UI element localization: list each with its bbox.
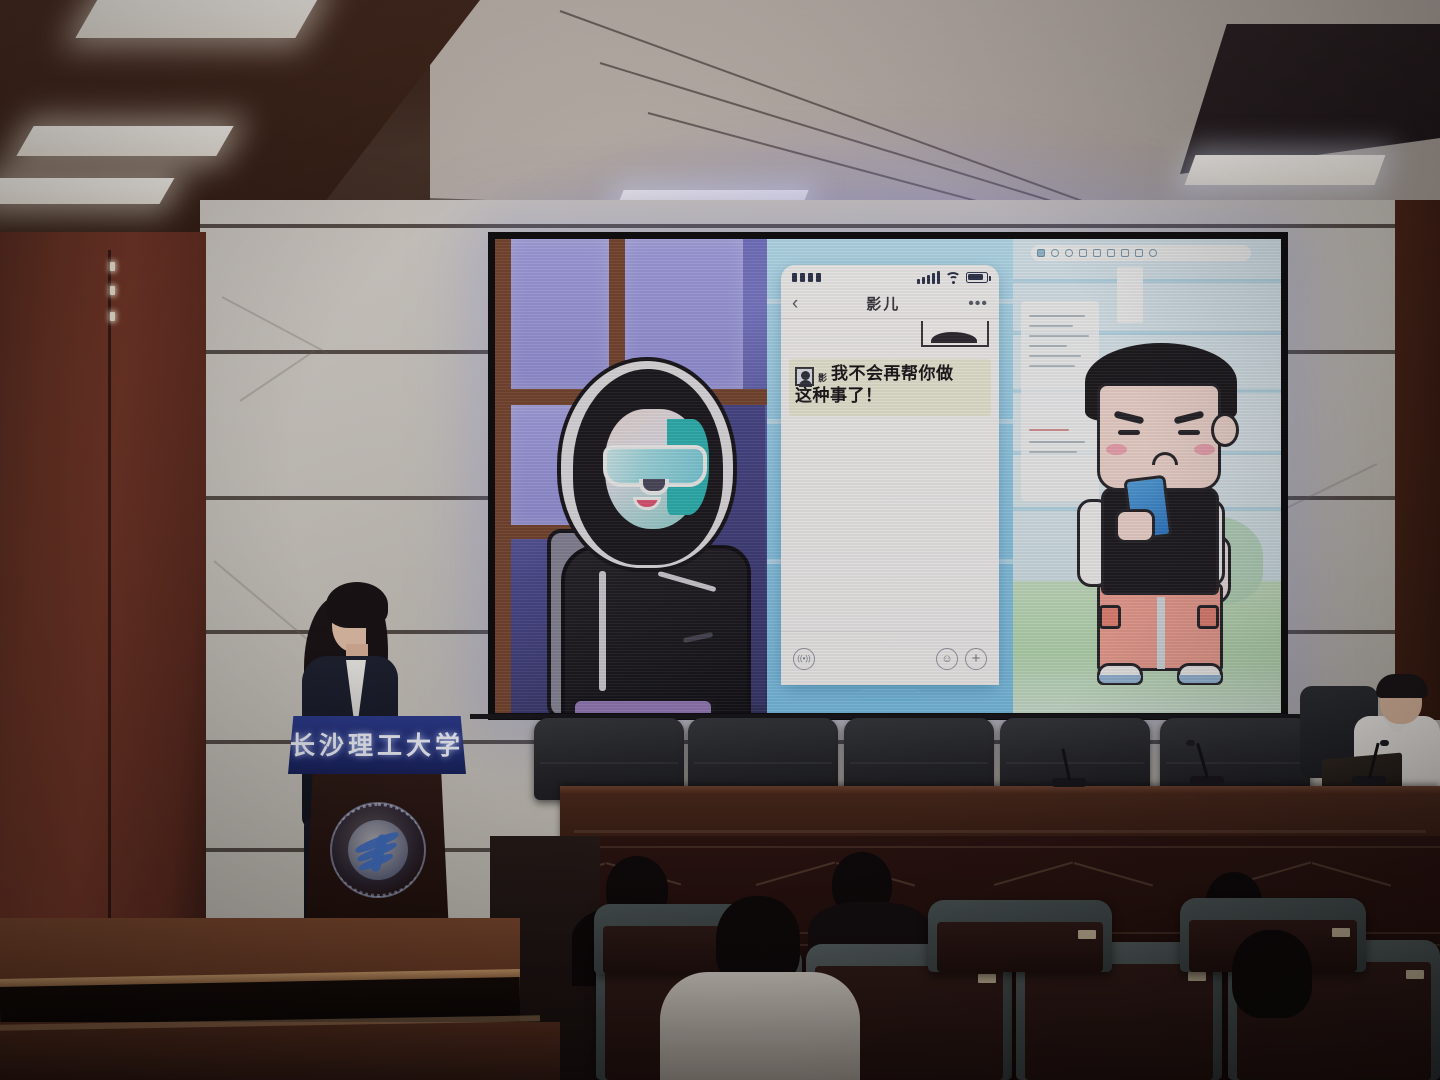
slide-panel-phone: ‹ 影儿 ••• 影 — [767, 239, 1013, 713]
phone-nav-bar: ‹ 影儿 ••• — [781, 289, 999, 319]
blush-left — [1106, 444, 1127, 455]
blush-right — [1194, 444, 1215, 455]
home-indicator — [859, 689, 921, 701]
mail-icon[interactable] — [1121, 249, 1129, 257]
jacket-stripe — [683, 632, 713, 643]
wall-light-dot — [110, 262, 115, 271]
shoe-right — [1177, 663, 1223, 685]
voice-message-icon[interactable]: ((•)) — [793, 648, 815, 670]
wall-chevron — [1312, 862, 1391, 887]
ceiling-light-panel — [16, 126, 233, 156]
chair-seat — [571, 697, 715, 713]
chat-contact-name: 影儿 — [866, 293, 900, 314]
search-icon[interactable] — [1051, 249, 1059, 257]
signal-bars-icon — [917, 271, 940, 284]
boy-character — [1071, 291, 1251, 691]
ceiling-light-panel — [0, 178, 175, 204]
seat-number-plate — [1188, 972, 1206, 981]
phone-status-bar — [781, 265, 999, 289]
audience-head — [1232, 930, 1312, 1018]
edit-icon[interactable] — [1079, 249, 1087, 257]
cloud-icon[interactable] — [1107, 249, 1115, 257]
wall-chevron — [756, 861, 835, 886]
browser-toolbar[interactable] — [1031, 245, 1251, 261]
menu-icon[interactable] — [1037, 249, 1045, 257]
microphone-head — [1186, 740, 1195, 746]
message-header: 影 我不会再帮你做 — [795, 364, 985, 386]
slide-panel-hacker — [495, 239, 767, 713]
audience-seat[interactable] — [928, 900, 1112, 972]
bg-stripe — [1013, 279, 1281, 283]
emoji-icon[interactable]: ☺ — [936, 648, 958, 670]
boy-ear — [1211, 413, 1239, 447]
seat-number-plate — [1078, 930, 1096, 939]
message-text-line-2: 这种事了！ — [795, 386, 985, 408]
previous-message-thumbnail — [921, 321, 989, 347]
table-top-edge — [560, 786, 1440, 794]
podium-banner-text: 长沙理工大学 — [288, 726, 466, 762]
hacker-character — [547, 357, 757, 713]
wifi-icon — [945, 271, 961, 283]
audience-shoulder — [660, 972, 860, 1080]
wall-chevron — [1074, 862, 1153, 887]
auditorium-scene: ‹ 影儿 ••• 影 — [0, 0, 1440, 1080]
back-icon[interactable]: ‹ — [792, 294, 798, 313]
battery-icon — [966, 272, 988, 283]
marble-vein — [239, 350, 315, 402]
filter-icon[interactable] — [1135, 249, 1143, 257]
wood-panel-seam — [108, 250, 111, 930]
wall-light-dot — [110, 312, 115, 321]
pants-gap — [1157, 597, 1165, 669]
home-icon[interactable] — [1093, 249, 1101, 257]
left-indicator-bars — [792, 273, 821, 282]
marble-seam — [200, 224, 1440, 228]
eye-left — [1118, 430, 1140, 435]
pants-pocket-right — [1197, 605, 1219, 629]
sender-tag: 影 — [818, 371, 827, 384]
jacket-stripe — [657, 571, 716, 592]
led-screen-content: ‹ 影儿 ••• 影 — [495, 239, 1281, 713]
table-groove — [574, 830, 1426, 833]
wall-trim — [490, 846, 1440, 848]
avatar — [795, 367, 814, 386]
cap — [1376, 674, 1428, 698]
seat-number-plate — [1332, 928, 1350, 937]
stage-lower-step — [0, 1022, 560, 1080]
message-text-line-1: 我不会再帮你做 — [831, 364, 954, 386]
ceiling-light-panel — [75, 0, 320, 38]
marble-vein — [222, 296, 329, 354]
seal-emblem — [348, 820, 408, 880]
wall-chevron — [994, 861, 1073, 886]
podium-banner: 长沙理工大学 — [288, 716, 466, 774]
globe-icon[interactable] — [1065, 249, 1073, 257]
seat-number-plate — [1406, 970, 1424, 979]
settings-icon[interactable] — [1149, 249, 1157, 257]
more-options-icon[interactable]: ••• — [968, 295, 988, 313]
chat-input-bar[interactable]: ((•)) ☺ + — [781, 631, 999, 685]
led-display-screen: ‹ 影儿 ••• 影 — [488, 232, 1288, 720]
wood-wall-right — [1395, 200, 1440, 720]
eye-right — [1178, 430, 1200, 435]
pants-pocket-left — [1099, 605, 1121, 629]
phone-mockup: ‹ 影儿 ••• 影 — [781, 265, 999, 685]
slide-panel-boy — [1013, 239, 1281, 713]
wood-wall-left — [0, 232, 206, 932]
seat-number-plate — [978, 974, 996, 983]
university-seal — [330, 802, 426, 898]
jacket-stripe — [599, 571, 606, 691]
add-attachment-icon[interactable]: + — [965, 648, 987, 670]
microphone-head — [1380, 740, 1389, 746]
shoe-left — [1097, 663, 1143, 685]
eyebrow-left — [1114, 410, 1145, 424]
boy-hand — [1115, 509, 1155, 543]
window-frame — [495, 239, 511, 713]
chat-message-bubble: 影 我不会再帮你做 这种事了！ — [789, 359, 991, 416]
seat-back-panel — [1025, 964, 1213, 1080]
chat-message-list: 影 我不会再帮你做 这种事了！ — [781, 319, 999, 631]
thumbnail-shape — [931, 332, 977, 343]
eyebrow-right — [1174, 410, 1205, 424]
wall-light-dot — [110, 286, 115, 295]
frown-mouth — [1152, 452, 1178, 465]
